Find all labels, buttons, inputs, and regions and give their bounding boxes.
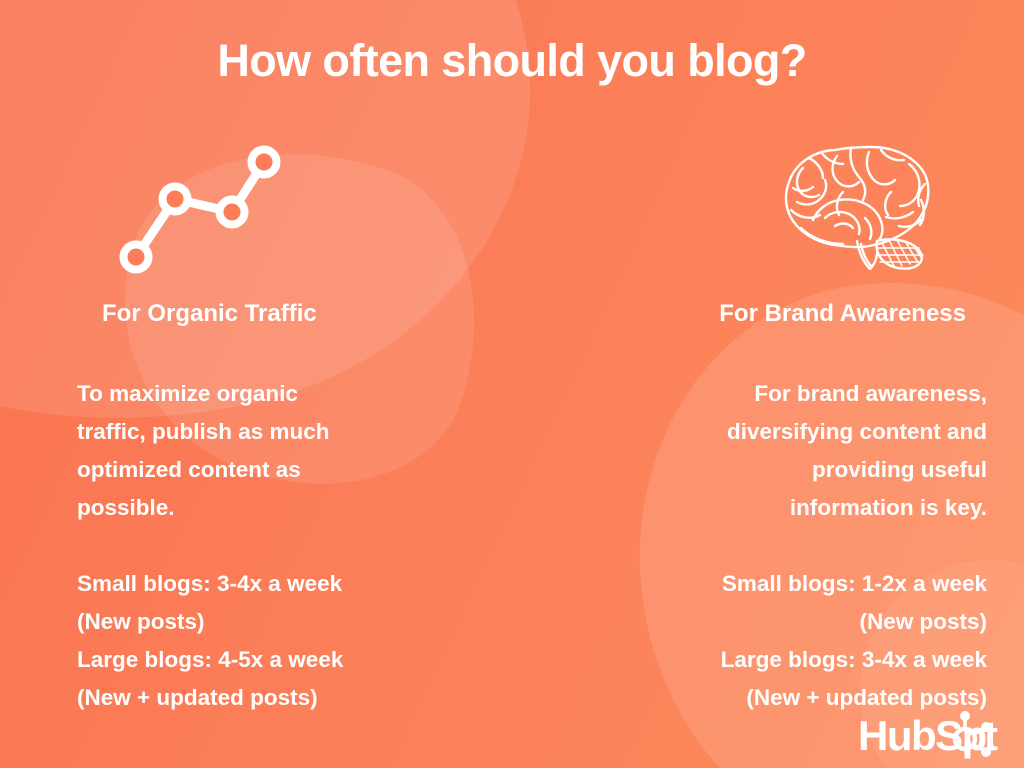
column-organic-traffic: For Organic Traffic To maximize organic … [60,140,460,717]
column-brand-awareness: For Brand Awareness For brand awareness,… [604,140,1004,717]
line-chart-icon-wrap [60,140,460,300]
infographic-canvas: How often should you blog? For Organic T… [0,0,1024,768]
line-chart-icon [118,140,298,280]
column-heading-brand-awareness: For Brand Awareness [604,300,1004,329]
brain-icon [773,140,948,270]
page-title: How often should you blog? [0,36,1024,86]
column-body-organic-traffic: To maximize organic traffic, publish as … [60,375,460,527]
column-stats-organic-traffic: Small blogs: 3-4x a week (New posts) Lar… [60,565,460,717]
hubspot-logo: HubSp t [858,708,1010,760]
column-stats-brand-awareness: Small blogs: 1-2x a week (New posts) Lar… [604,565,1004,717]
column-heading-organic-traffic: For Organic Traffic [60,300,460,329]
hubspot-wordmark: HubSp t [858,708,1010,760]
column-body-brand-awareness: For brand awareness, diversifying conten… [604,375,1004,527]
brain-icon-wrap [604,140,1004,300]
